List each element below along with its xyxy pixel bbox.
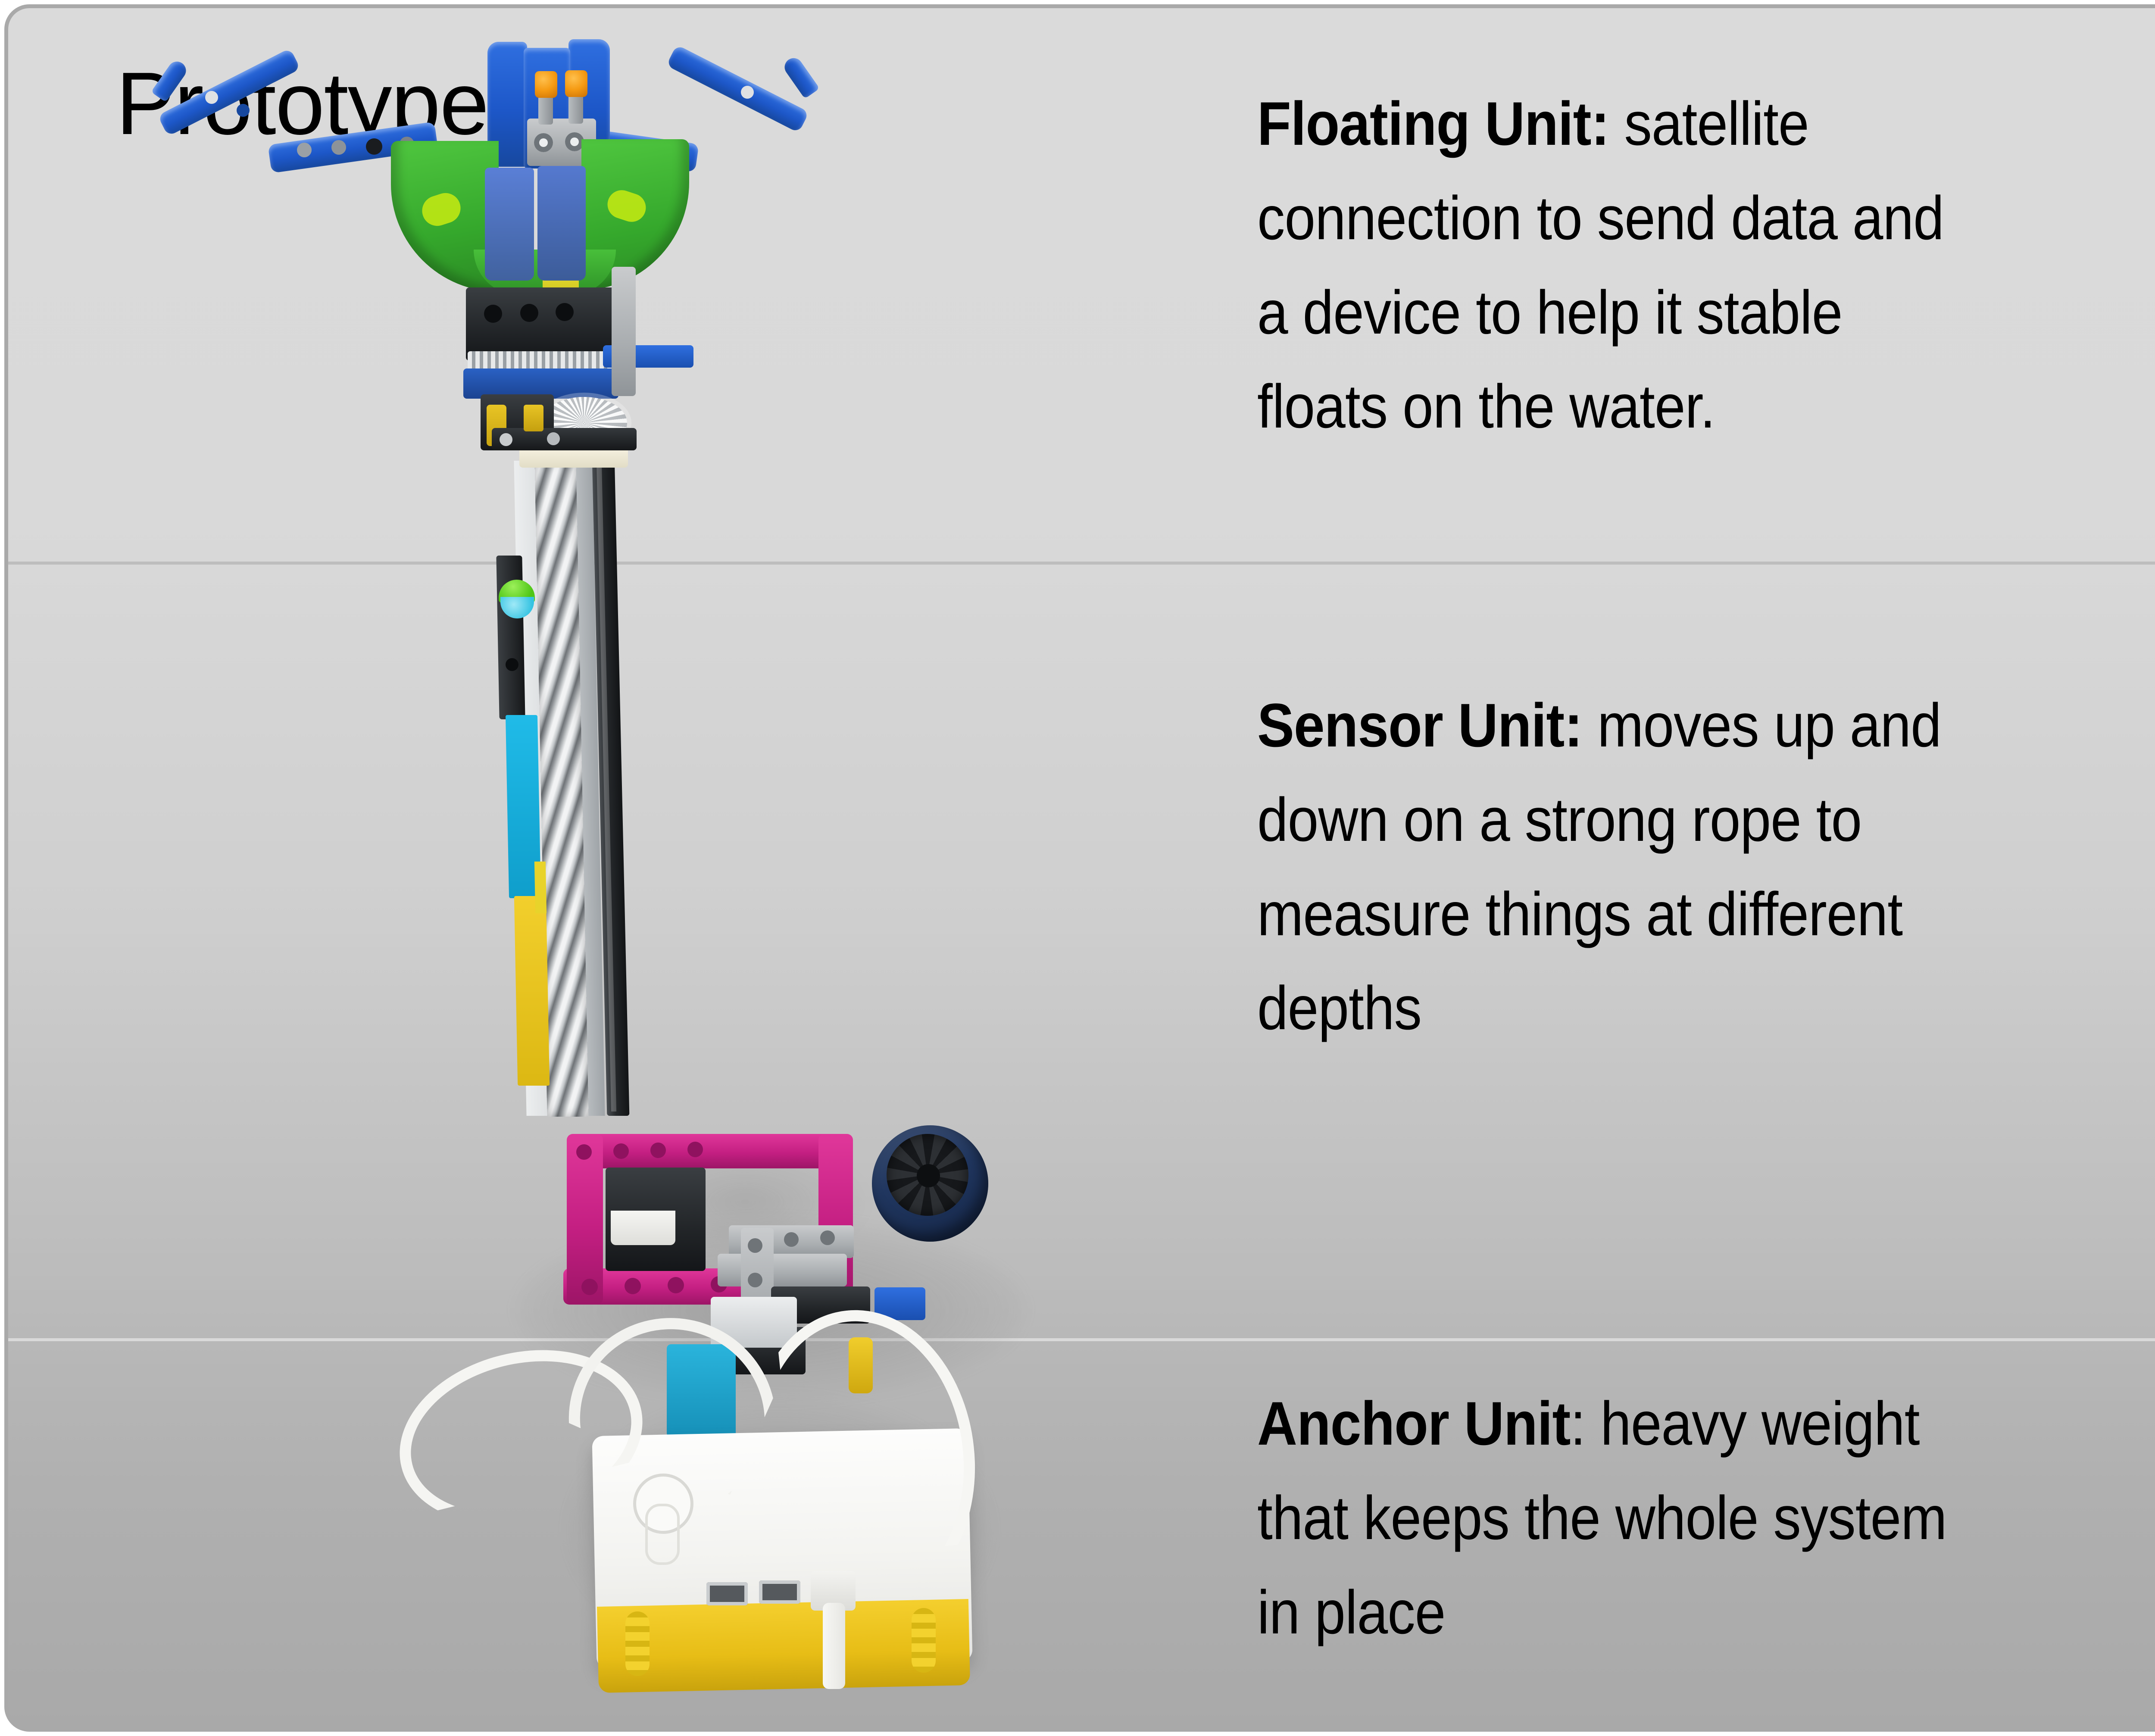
guide-rail-hole-2 [506,658,518,671]
spike-hub-axle-holes-left [625,1611,650,1676]
fan-hub-center [917,1164,940,1187]
anchor-gray-beam-2 [718,1254,847,1286]
caption-sensor-unit-heading: Sensor Unit: [1257,691,1582,760]
spike-hub-port-2 [759,1580,800,1604]
sensor-yellow-segment [514,896,550,1086]
mast-top-pin-right [547,432,560,445]
magenta-hole-b1 [581,1279,598,1295]
gray-beam-hole-1 [748,1238,762,1253]
light-brick-left [535,71,557,98]
spike-hub-axle-holes-right [912,1608,936,1673]
right-outer-arm-tip [781,55,819,99]
magenta-hole-t3 [650,1143,666,1158]
sail-plate-left [485,168,534,281]
prototype-photo [439,25,1172,1719]
magenta-hole-t2 [613,1143,629,1159]
gray-axle-holder [612,267,636,396]
spike-hub-slot [645,1504,680,1565]
caption-floating-unit: Floating Unit: satellite connection to s… [1257,77,1959,454]
mast-top-dark-beam [492,428,637,450]
light-brick-right [565,70,587,97]
gray-beam-hole-3 [784,1232,799,1247]
caption-floating-unit-heading: Floating Unit: [1257,90,1609,158]
magenta-hole-b3 [668,1277,684,1293]
right-outer-arm-pin [741,86,754,99]
gear-rack-upper [468,351,611,370]
antenna-base-hole-left [534,133,553,152]
caption-anchor-unit-heading: Anchor Unit [1257,1389,1570,1458]
sensor-yellow-accent [534,862,547,913]
anchor-motor-white-cap [611,1211,675,1245]
slide-card: Prototype 1 Floating Unit: satellite con… [4,4,2155,1732]
caption-anchor-unit: Anchor Unit: heavy weight that keeps the… [1257,1377,1959,1660]
left-inner-hole-3 [366,138,382,155]
magenta-hole-b2 [625,1278,641,1294]
left-outer-arm-hole [237,104,250,117]
caption-sensor-unit: Sensor Unit: moves up and down on a stro… [1257,679,1959,1056]
sail-plate-right [537,166,586,281]
right-outer-arm [666,45,809,133]
magenta-frame-top [568,1134,843,1168]
motor-hole-2 [520,304,538,322]
motor-hole-1 [484,305,502,323]
left-inner-hole-1 [297,143,312,157]
magenta-hole-t4 [687,1142,703,1157]
left-outer-arm-pin [205,91,218,104]
mast-top-yellow-axle [524,405,543,431]
gray-beam-hole-2 [748,1273,762,1287]
magenta-hole-t1 [576,1144,592,1160]
floating-motor-block [466,287,621,361]
gray-beam-hole-4 [820,1230,835,1245]
motor-hole-3 [556,303,574,321]
mast-top-pin-left [500,433,512,446]
ribbon-cable-tail [823,1603,845,1689]
left-inner-hole-2 [331,140,346,155]
spike-hub-port-1 [706,1582,748,1605]
